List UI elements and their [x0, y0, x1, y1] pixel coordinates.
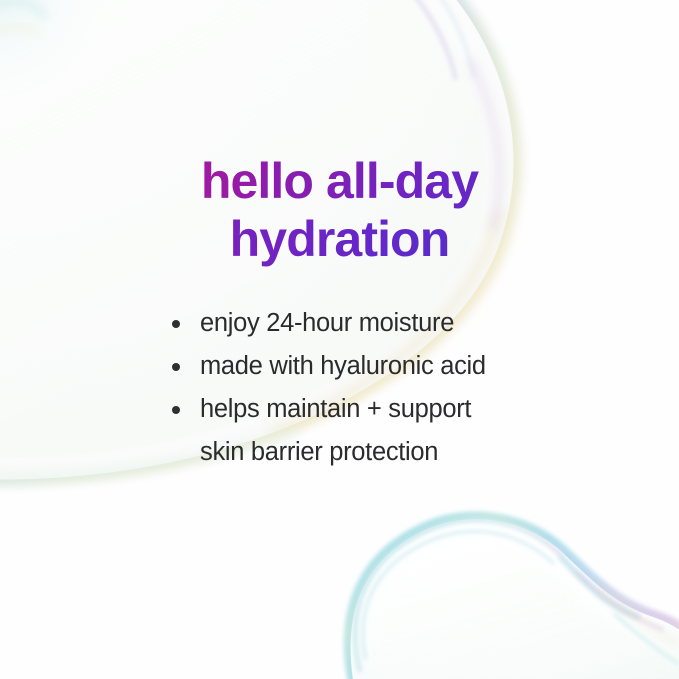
list-item: made with hyaluronic acid	[168, 345, 628, 388]
benefit-text: made with hyaluronic acid	[200, 345, 628, 388]
bullet-dot-icon	[172, 406, 180, 414]
benefit-text: enjoy 24-hour moisture	[200, 302, 628, 345]
benefits-list: enjoy 24-hour moisture made with hyaluro…	[168, 302, 628, 474]
headline-line-2: hydration	[0, 210, 679, 268]
list-item: enjoy 24-hour moisture	[168, 302, 628, 345]
benefit-text: helps maintain + support	[200, 388, 628, 431]
list-item: helps maintain + support skin barrier pr…	[168, 388, 628, 474]
text-content: hello all-day hydration enjoy 24-hour mo…	[0, 0, 679, 679]
page-title: hello all-day hydration	[0, 152, 679, 268]
marketing-graphic: hello all-day hydration enjoy 24-hour mo…	[0, 0, 679, 679]
headline-line-1: hello all-day	[0, 152, 679, 210]
bullet-dot-icon	[172, 320, 180, 328]
benefit-text-wrap: skin barrier protection	[200, 431, 628, 474]
bullet-dot-icon	[172, 363, 180, 371]
